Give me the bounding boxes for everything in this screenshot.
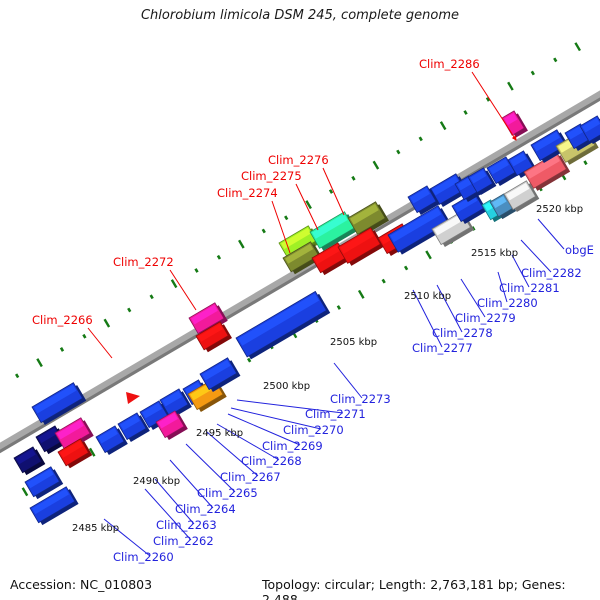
tick-mark xyxy=(105,319,110,327)
gene-label-clim_2263[interactable]: Clim_2263 xyxy=(156,518,217,532)
genome-viewer: Chlorobium limicola DSM 245, complete ge… xyxy=(0,0,600,600)
gene-label-clim_2272[interactable]: Clim_2272 xyxy=(113,255,174,269)
strand-direction-marker-left xyxy=(126,392,140,404)
tick-mark xyxy=(172,280,177,288)
tick-mark xyxy=(83,335,85,338)
scale-tick-label: 2500 kbp xyxy=(263,381,310,392)
gene-label-clim_2271[interactable]: Clim_2271 xyxy=(305,407,366,421)
leader-line xyxy=(88,328,112,358)
gene-label-clim_2265[interactable]: Clim_2265 xyxy=(197,486,258,500)
gene-label-clim_2270[interactable]: Clim_2270 xyxy=(283,423,344,437)
tick-mark xyxy=(239,240,244,248)
genome-backbone xyxy=(0,88,600,455)
tick-mark xyxy=(359,290,364,298)
gene-label-clim_2278[interactable]: Clim_2278 xyxy=(432,326,493,340)
tick-mark xyxy=(285,216,287,219)
gene-label-clim_2273[interactable]: Clim_2273 xyxy=(330,392,391,406)
tick-mark xyxy=(16,374,18,377)
tick-mark xyxy=(128,308,130,311)
tick-mark xyxy=(338,306,340,309)
gene-label-clim_2269[interactable]: Clim_2269 xyxy=(262,439,323,453)
gene-label-clim_2262[interactable]: Clim_2262 xyxy=(153,534,214,548)
leader-line xyxy=(538,219,564,249)
tick-mark xyxy=(248,358,250,361)
tick-mark xyxy=(420,137,422,140)
gene-label-clim_2286[interactable]: Clim_2286 xyxy=(419,57,480,71)
scale-tick-label: 2485 kbp xyxy=(72,523,119,534)
tick-mark xyxy=(441,122,446,130)
scale-tick-label: 2515 kbp xyxy=(471,248,518,259)
tick-mark xyxy=(23,488,28,496)
scale-tick-label: 2495 kbp xyxy=(196,428,243,439)
scale-tick-label: 2520 kbp xyxy=(536,204,583,215)
gene-label-clim_2267[interactable]: Clim_2267 xyxy=(220,470,281,484)
status-bar: Accession: NC_010803 Topology: circular;… xyxy=(0,572,600,600)
tick-mark xyxy=(37,359,42,367)
tick-mark xyxy=(352,177,354,180)
genome-map-canvas[interactable]: 2485 kbp2490 kbp2495 kbp2500 kbp2505 kbp… xyxy=(0,0,600,600)
gene-label-clim_2260[interactable]: Clim_2260 xyxy=(113,550,174,564)
gene-feature[interactable] xyxy=(14,446,45,476)
tick-mark xyxy=(532,71,534,74)
gene-label-clim_2275[interactable]: Clim_2275 xyxy=(241,169,302,183)
tick-mark xyxy=(465,111,467,114)
gene-label-clim_2276[interactable]: Clim_2276 xyxy=(268,153,329,167)
gene-label-clim_2279[interactable]: Clim_2279 xyxy=(455,311,516,325)
tick-mark xyxy=(383,279,385,282)
genome-summary-text: Topology: circular; Length: 2,763,181 bp… xyxy=(262,577,600,600)
tick-mark xyxy=(584,161,586,164)
tick-mark xyxy=(554,58,556,61)
gene-label-clim_2268[interactable]: Clim_2268 xyxy=(241,454,302,468)
tick-mark xyxy=(218,256,220,259)
gene-label-obge[interactable]: obgE xyxy=(565,243,594,257)
tick-mark xyxy=(575,43,580,51)
tick-mark xyxy=(61,348,63,351)
leader-line xyxy=(296,184,318,230)
tick-mark xyxy=(263,229,265,232)
tick-mark xyxy=(426,251,431,259)
leader-line xyxy=(323,168,344,215)
leader-line xyxy=(186,444,235,492)
tick-mark xyxy=(374,161,379,169)
gene-label-clim_2280[interactable]: Clim_2280 xyxy=(477,296,538,310)
scale-tick-label: 2510 kbp xyxy=(404,291,451,302)
tick-mark xyxy=(195,269,197,272)
scale-tick-label: 2505 kbp xyxy=(330,337,377,348)
gene-label-clim_2281[interactable]: Clim_2281 xyxy=(499,281,560,295)
gene-label-clim_2266[interactable]: Clim_2266 xyxy=(32,313,93,327)
tick-mark xyxy=(508,82,513,90)
tick-mark xyxy=(330,190,332,193)
gene-label-clim_2277[interactable]: Clim_2277 xyxy=(412,341,473,355)
tick-mark xyxy=(405,266,407,269)
leader-line xyxy=(170,270,196,310)
gene-label-clim_2274[interactable]: Clim_2274 xyxy=(217,186,278,200)
scale-tick-label: 2490 kbp xyxy=(133,476,180,487)
gene-label-clim_2264[interactable]: Clim_2264 xyxy=(175,502,236,516)
gene-label-clim_2282[interactable]: Clim_2282 xyxy=(521,266,582,280)
accession-text: Accession: NC_010803 xyxy=(10,577,152,592)
tick-mark xyxy=(151,295,153,298)
tick-mark xyxy=(397,150,399,153)
